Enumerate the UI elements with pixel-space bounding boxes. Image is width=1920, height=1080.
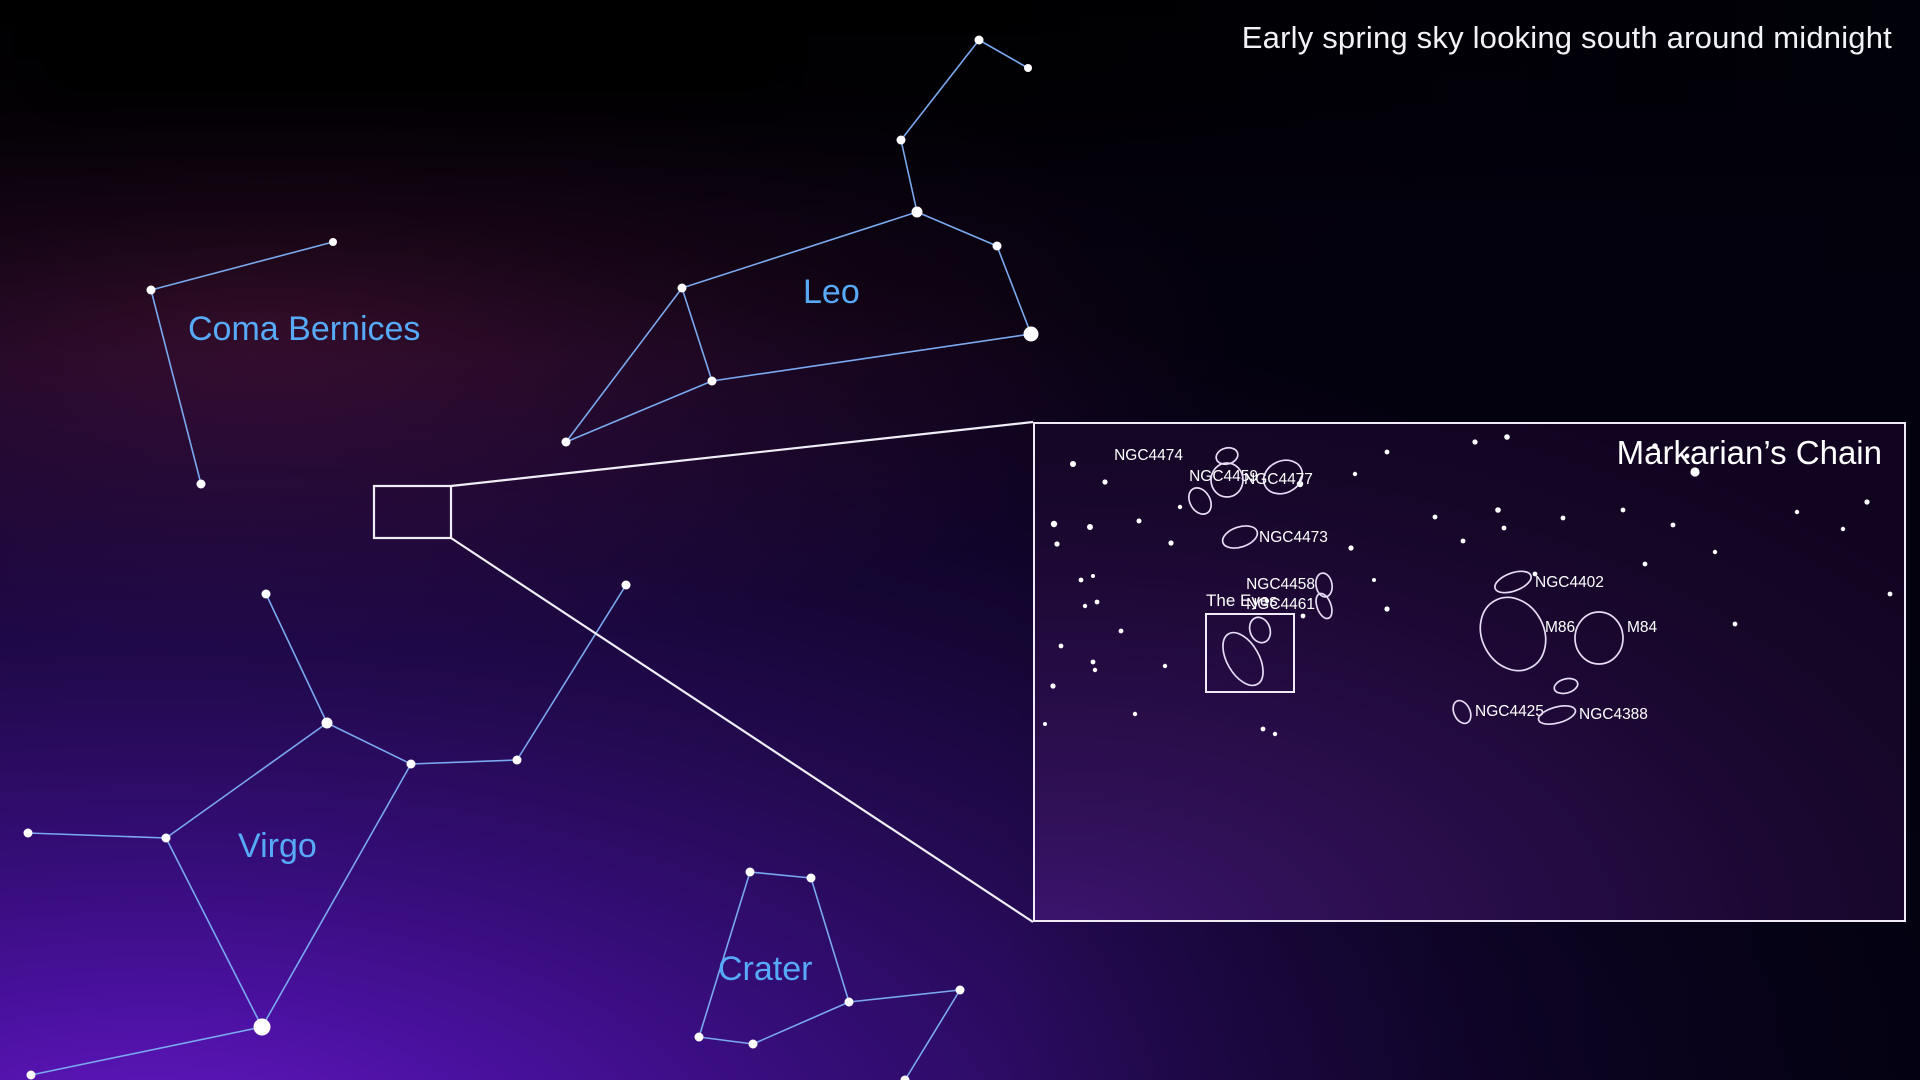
field-star <box>1652 443 1658 449</box>
galaxy-outline <box>1553 676 1580 696</box>
field-star <box>1353 472 1357 476</box>
star-marker <box>912 207 923 218</box>
constellation-label: Crater <box>718 950 812 988</box>
inset-galaxies: NGC4474NGC4459NGC4477NGC4473NGC4458NGC44… <box>1114 445 1657 727</box>
galaxy-label: NGC4473 <box>1259 529 1328 546</box>
star-chart: Early spring sky looking south around mi… <box>0 0 1920 1080</box>
markarian-chain-inset: Markarian’s Chain NGC4474NGC4459NGC4477N… <box>1033 422 1906 922</box>
inset-sky-overlay: NGC4474NGC4459NGC4477NGC4473NGC4458NGC44… <box>1035 424 1904 920</box>
galaxy-label: NGC4474 <box>1114 447 1183 464</box>
galaxy-outline <box>1492 567 1534 597</box>
field-star <box>1621 508 1626 513</box>
field-star <box>1043 722 1047 726</box>
constellation-line <box>811 878 849 1002</box>
zoom-leader-lines <box>451 422 1033 922</box>
galaxy-label: NGC4402 <box>1535 574 1604 591</box>
field-star <box>1050 683 1055 688</box>
star-marker <box>897 136 906 145</box>
field-star <box>1713 550 1717 554</box>
inset-field-stars <box>1043 434 1892 736</box>
constellation-label: Leo <box>803 273 860 311</box>
constellation-line <box>151 242 333 290</box>
field-star <box>1137 519 1142 524</box>
star-marker <box>708 377 717 386</box>
field-star <box>1495 507 1501 513</box>
constellation-virgo: Virgo <box>24 581 631 1080</box>
galaxy-label: M86 <box>1545 619 1575 636</box>
field-star <box>1070 461 1076 467</box>
star-marker <box>746 868 755 877</box>
zoom-region-box[interactable] <box>374 486 451 538</box>
constellation-line <box>997 246 1031 334</box>
constellation-line <box>566 381 712 442</box>
field-star <box>1433 515 1438 520</box>
constellation-line <box>901 140 917 212</box>
field-star <box>1461 539 1466 544</box>
galaxy-label: NGC4477 <box>1244 471 1313 488</box>
field-star <box>1059 644 1064 649</box>
star-marker <box>513 756 522 765</box>
galaxy-outline <box>1450 698 1475 727</box>
constellation-line <box>712 334 1031 381</box>
field-star <box>1273 732 1277 736</box>
field-star <box>1091 574 1095 578</box>
constellation-label: Coma Bernices <box>188 310 420 348</box>
star-marker <box>1024 327 1039 342</box>
constellation-line <box>699 1037 753 1044</box>
field-star <box>1261 727 1266 732</box>
field-star <box>1888 592 1893 597</box>
the-eyes-label: The Eyes <box>1206 591 1278 610</box>
constellations-group: Coma BernicesLeoVirgoCrater <box>24 36 1039 1080</box>
star-marker <box>322 718 333 729</box>
constellation-line <box>682 288 712 381</box>
field-star <box>1168 540 1173 545</box>
field-star <box>1091 660 1096 665</box>
field-star <box>1384 606 1389 611</box>
field-star <box>1301 614 1306 619</box>
constellation-line <box>750 872 811 878</box>
constellation-line <box>917 212 997 246</box>
zoom-leader-line <box>451 422 1033 486</box>
constellation-label: Virgo <box>238 827 317 865</box>
star-marker <box>254 1019 271 1036</box>
star-marker <box>27 1071 36 1080</box>
constellation-crater: Crater <box>695 868 965 1080</box>
field-star <box>1502 526 1507 531</box>
star-marker <box>749 1040 758 1049</box>
constellation-line <box>411 760 517 764</box>
galaxy-outline <box>1184 484 1215 518</box>
field-star <box>1083 604 1087 608</box>
zoom-leader-line <box>451 538 1033 922</box>
star-marker <box>1024 64 1032 72</box>
field-star <box>1095 600 1100 605</box>
star-marker <box>262 590 271 599</box>
the-eyes-galaxy <box>1215 626 1272 692</box>
constellation-line <box>262 764 411 1027</box>
constellation-line <box>905 990 960 1080</box>
field-star <box>1087 524 1093 530</box>
star-marker <box>147 286 156 295</box>
constellation-leo: Leo <box>562 36 1039 447</box>
constellation-line <box>682 212 917 288</box>
field-star <box>1864 499 1869 504</box>
field-star <box>1643 562 1648 567</box>
constellation-line <box>849 990 960 1002</box>
field-star <box>1054 541 1059 546</box>
star-marker <box>329 238 337 246</box>
constellation-line <box>566 288 682 442</box>
field-star <box>1372 578 1376 582</box>
field-star <box>1102 479 1107 484</box>
field-star <box>1133 712 1137 716</box>
star-marker <box>695 1033 704 1042</box>
galaxy-outline <box>1220 522 1260 552</box>
field-star <box>1685 454 1690 459</box>
constellation-line <box>166 838 262 1027</box>
field-star <box>1178 505 1182 509</box>
field-star <box>1079 578 1084 583</box>
star-marker <box>197 480 206 489</box>
star-marker <box>622 581 631 590</box>
galaxy-label: NGC4425 <box>1475 703 1544 720</box>
field-star <box>1093 668 1097 672</box>
star-marker <box>845 998 854 1007</box>
constellation-line <box>166 723 327 838</box>
field-star <box>1504 434 1510 440</box>
star-marker <box>407 760 416 769</box>
constellation-line <box>901 40 979 140</box>
field-star <box>1841 527 1845 531</box>
field-star <box>1348 545 1353 550</box>
galaxy-outline <box>1313 591 1335 620</box>
galaxy-outline <box>1575 612 1623 664</box>
constellation-line <box>753 1002 849 1044</box>
constellation-line <box>31 1027 262 1075</box>
star-marker <box>993 242 1002 251</box>
field-star <box>1385 450 1390 455</box>
constellation-coma-bernices: Coma Bernices <box>147 238 421 489</box>
field-star <box>1733 622 1738 627</box>
star-marker <box>162 834 171 843</box>
field-star <box>1671 523 1676 528</box>
field-star <box>1051 521 1057 527</box>
field-star <box>1472 439 1477 444</box>
field-star <box>1795 510 1799 514</box>
field-star <box>1561 516 1566 521</box>
star-marker <box>562 438 571 447</box>
star-marker <box>24 829 33 838</box>
constellation-line <box>979 40 1028 68</box>
field-star <box>1690 467 1699 476</box>
constellation-line <box>28 833 166 838</box>
star-marker <box>975 36 984 45</box>
galaxy-label: NGC4388 <box>1579 706 1648 723</box>
field-star <box>1119 629 1124 634</box>
field-star <box>1163 664 1167 668</box>
star-marker <box>678 284 687 293</box>
constellation-line <box>517 585 626 760</box>
constellation-line <box>266 594 327 723</box>
star-marker <box>807 874 816 883</box>
galaxy-label: M84 <box>1627 619 1658 636</box>
constellation-line <box>327 723 411 764</box>
star-marker <box>956 986 965 995</box>
